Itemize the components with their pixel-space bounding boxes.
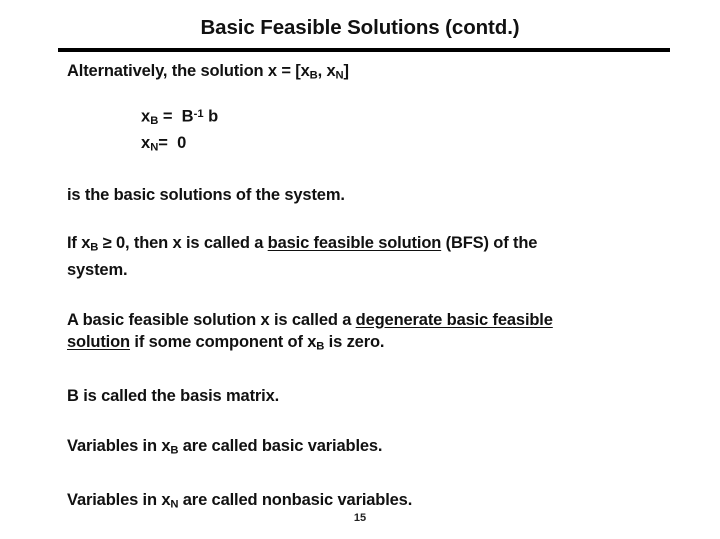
equation-xb-operator: = B [158, 108, 193, 126]
equation-xn-lhs: x [141, 134, 150, 152]
intro-paragraph: Alternatively, the solution x = [xB, xN] [67, 60, 595, 86]
equation-block: xB = B-1 b xN= 0 [141, 104, 667, 158]
bfs-term: basic feasible solution [268, 234, 442, 252]
degenerate-part1: A basic feasible solution x is called a [67, 311, 356, 329]
basis-matrix-paragraph: B is called the basis matrix. [67, 385, 595, 407]
slide: Basic Feasible Solutions (contd.) Altern… [0, 0, 720, 539]
bfs-paragraph: If xB ≥ 0, then x is called a basic feas… [67, 232, 595, 280]
degenerate-part3: is zero. [324, 333, 384, 351]
basic-solution-paragraph: is the basic solutions of the system. [67, 184, 595, 206]
equation-xb-lhs: x [141, 108, 150, 126]
degenerate-part2: if some component of x [130, 333, 316, 351]
bfs-part2: ≥ 0, then x is called a [98, 234, 267, 252]
equation-xb-rhs: b [204, 108, 219, 126]
intro-sub-b: B [310, 69, 318, 81]
slide-body: Alternatively, the solution x = [xB, xN]… [67, 60, 667, 516]
title-divider [58, 48, 670, 52]
page-number: 15 [0, 512, 720, 524]
equation-xn: xN= 0 [141, 133, 667, 158]
page-title: Basic Feasible Solutions (contd.) [0, 16, 720, 40]
basic-variables-part1: Variables in x [67, 437, 170, 455]
equation-xb-exponent: -1 [194, 108, 204, 120]
intro-mid: , x [318, 62, 336, 80]
bfs-part1: If x [67, 234, 90, 252]
equation-xb: xB = B-1 b [141, 104, 667, 132]
intro-prefix: Alternatively, the solution x = [x [67, 62, 310, 80]
bfs-subscript: B [90, 242, 98, 254]
degenerate-paragraph: A basic feasible solution x is called a … [67, 309, 595, 357]
basic-variables-part2: are called basic variables. [178, 437, 382, 455]
basic-variables-paragraph: Variables in xB are called basic variabl… [67, 435, 595, 461]
intro-suffix: ] [343, 62, 348, 80]
equation-xn-operator: = 0 [158, 134, 186, 152]
nonbasic-variables-part2: are called nonbasic variables. [178, 491, 412, 509]
nonbasic-variables-part1: Variables in x [67, 491, 170, 509]
